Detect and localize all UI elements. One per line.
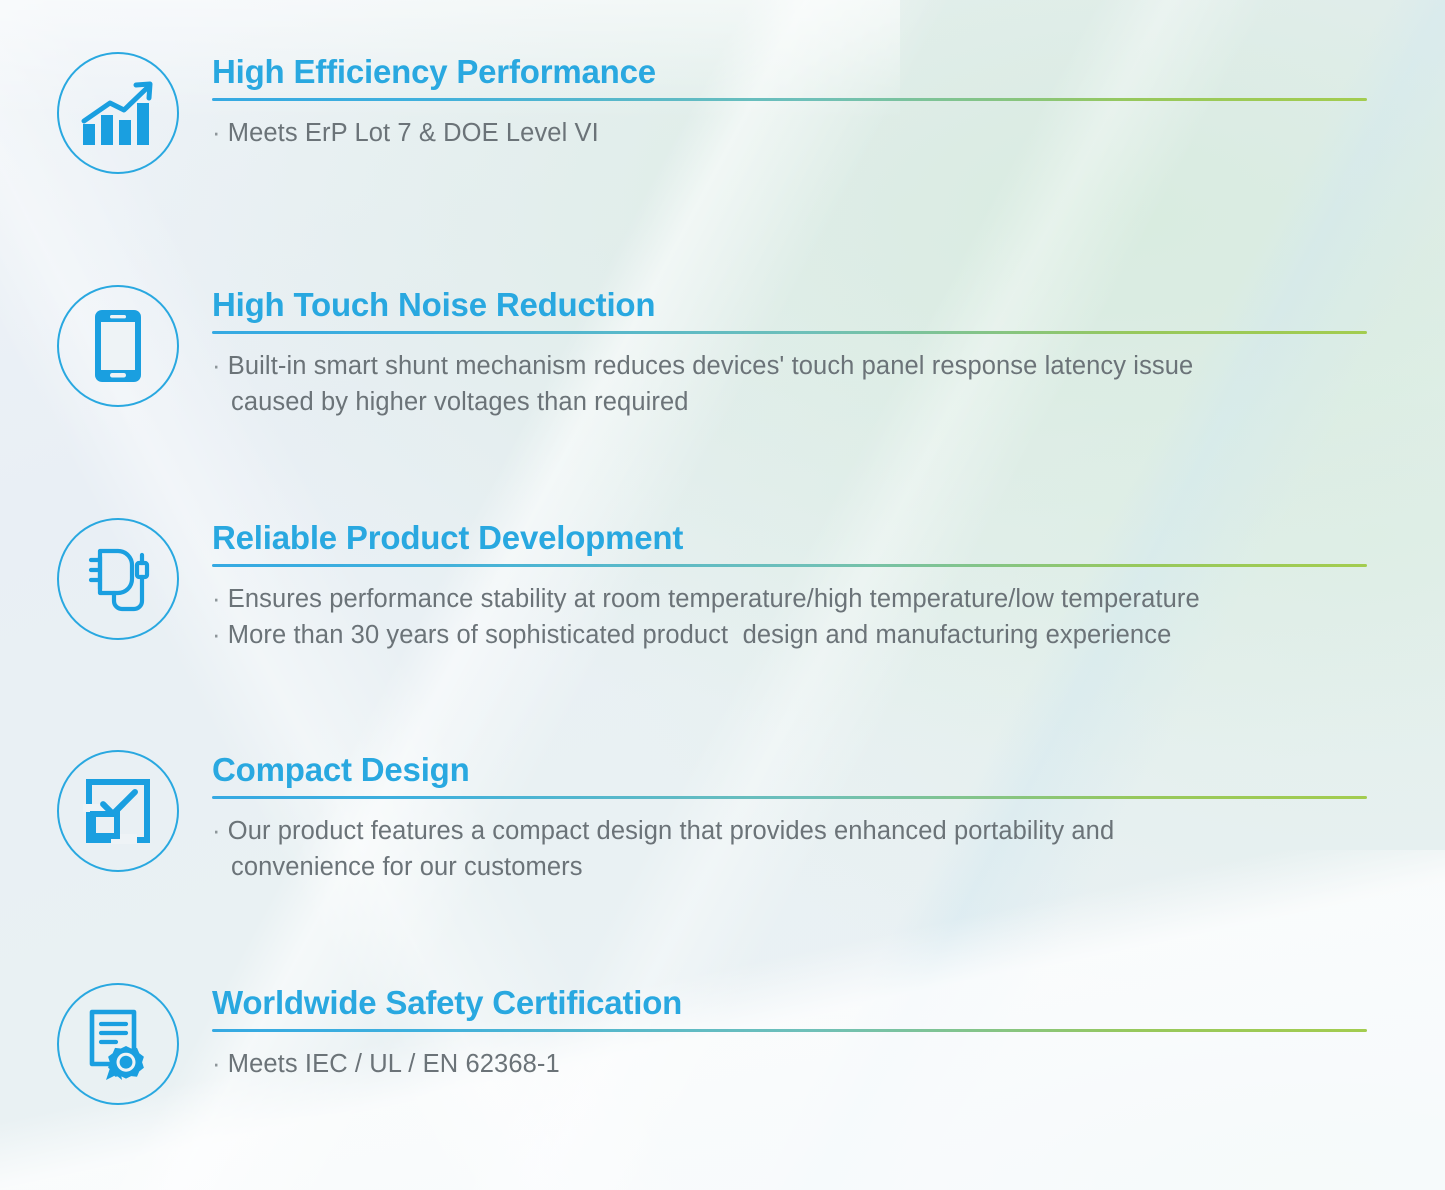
bullet-marker: · xyxy=(212,352,221,380)
feature-divider xyxy=(212,331,1367,334)
feature-title: High Efficiency Performance xyxy=(212,54,1445,91)
feature-description: · Ensures performance stability at room … xyxy=(212,581,1445,653)
feature-line-text: caused by higher voltages than required xyxy=(212,388,689,416)
feature-line-text: More than 30 years of sophisticated prod… xyxy=(228,621,1172,649)
feature-line: convenience for our customers xyxy=(212,849,1445,885)
feature-body: High Efficiency Performance · Meets ErP … xyxy=(212,52,1445,151)
feature-title: Worldwide Safety Certification xyxy=(212,985,1445,1022)
bullet-marker: · xyxy=(212,119,221,147)
feature-body: High Touch Noise Reduction · Built-in sm… xyxy=(212,285,1445,420)
bullet-marker: · xyxy=(212,585,221,613)
feature-line: · Our product features a compact design … xyxy=(212,813,1445,849)
bar-chart-growth-icon xyxy=(57,52,179,174)
feature-divider xyxy=(212,564,1367,567)
feature-line-text: Our product features a compact design th… xyxy=(228,817,1114,845)
feature-divider xyxy=(212,796,1367,799)
bullet-marker: · xyxy=(212,1050,221,1078)
feature-body: Compact Design · Our product features a … xyxy=(212,750,1445,885)
feature-line: · Meets ErP Lot 7 & DOE Level VI xyxy=(212,115,1445,151)
feature-title: Reliable Product Development xyxy=(212,520,1445,557)
feature-item-high-efficiency-performance: High Efficiency Performance · Meets ErP … xyxy=(0,52,1445,174)
feature-item-reliable-product-development: Reliable Product Development · Ensures p… xyxy=(0,518,1445,653)
feature-description: · Built-in smart shunt mechanism reduces… xyxy=(212,348,1445,420)
feature-divider xyxy=(212,1029,1367,1032)
compact-resize-icon xyxy=(57,750,179,872)
feature-line-text: Built-in smart shunt mechanism reduces d… xyxy=(228,352,1194,380)
feature-line: · Meets IEC / UL / EN 62368-1 xyxy=(212,1046,1445,1082)
bullet-marker: · xyxy=(212,817,221,845)
certificate-award-icon xyxy=(57,983,179,1105)
feature-title: High Touch Noise Reduction xyxy=(212,287,1445,324)
feature-description: · Meets ErP Lot 7 & DOE Level VI xyxy=(212,115,1445,151)
feature-line: · More than 30 years of sophisticated pr… xyxy=(212,617,1445,653)
feature-line-text: Meets ErP Lot 7 & DOE Level VI xyxy=(228,119,599,147)
feature-description: · Meets IEC / UL / EN 62368-1 xyxy=(212,1046,1445,1082)
feature-item-worldwide-safety-certification: Worldwide Safety Certification · Meets I… xyxy=(0,983,1445,1105)
smartphone-icon xyxy=(57,285,179,407)
power-adapter-icon xyxy=(57,518,179,640)
feature-item-compact-design: Compact Design · Our product features a … xyxy=(0,750,1445,885)
feature-description: · Our product features a compact design … xyxy=(212,813,1445,885)
feature-divider xyxy=(212,98,1367,101)
bullet-marker: · xyxy=(212,621,221,649)
feature-line: · Built-in smart shunt mechanism reduces… xyxy=(212,348,1445,384)
feature-line: caused by higher voltages than required xyxy=(212,384,1445,420)
feature-line-text: Meets IEC / UL / EN 62368-1 xyxy=(228,1050,560,1078)
feature-item-high-touch-noise-reduction: High Touch Noise Reduction · Built-in sm… xyxy=(0,285,1445,420)
feature-title: Compact Design xyxy=(212,752,1445,789)
feature-body: Worldwide Safety Certification · Meets I… xyxy=(212,983,1445,1082)
feature-line-text: Ensures performance stability at room te… xyxy=(228,585,1200,613)
feature-line-text: convenience for our customers xyxy=(212,853,583,881)
feature-body: Reliable Product Development · Ensures p… xyxy=(212,518,1445,653)
feature-line: · Ensures performance stability at room … xyxy=(212,581,1445,617)
